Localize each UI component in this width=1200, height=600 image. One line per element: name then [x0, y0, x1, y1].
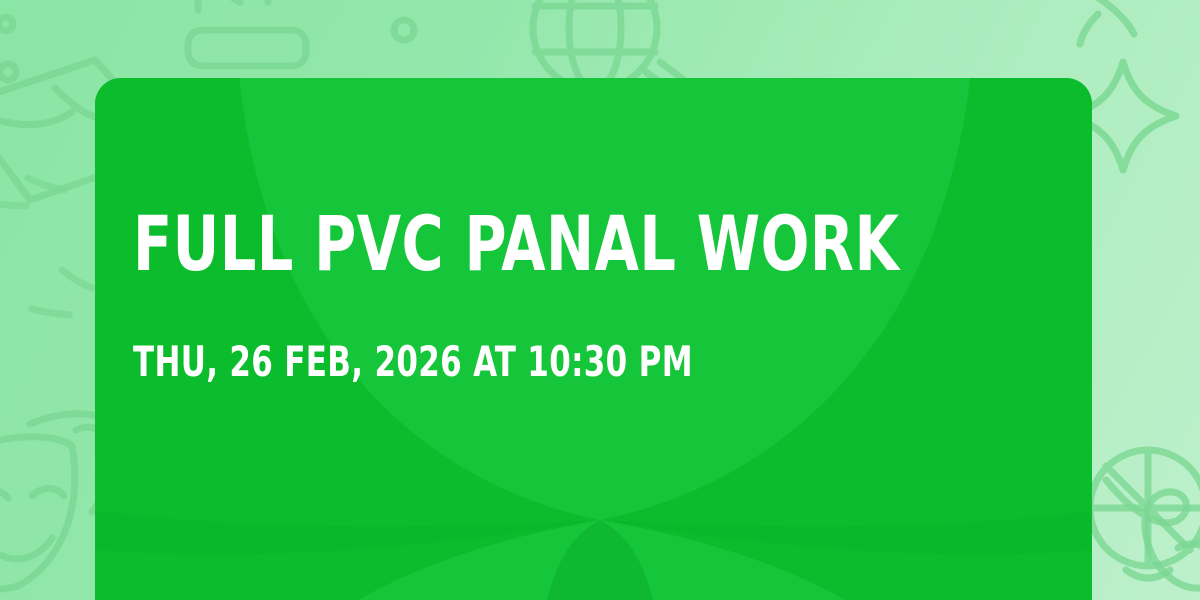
event-card-canvas: FULL PVC PANAL WORK THU, 26 FEB, 2026 AT…: [0, 0, 1200, 600]
card-content: FULL PVC PANAL WORK THU, 26 FEB, 2026 AT…: [133, 78, 1054, 600]
swoosh-icon: [1080, 0, 1134, 44]
streamer-ribbon-icon: [1106, 480, 1200, 588]
leaf-icon: [394, 20, 414, 40]
event-title: FULL PVC PANAL WORK: [133, 206, 899, 282]
event-datetime: THU, 26 FEB, 2026 AT 10:30 PM: [133, 341, 693, 383]
cake-icon: [188, 0, 306, 66]
circle-dot-icon: [0, 17, 13, 31]
event-card[interactable]: FULL PVC PANAL WORK THU, 26 FEB, 2026 AT…: [95, 78, 1092, 600]
theater-masks-icon: [0, 414, 109, 589]
